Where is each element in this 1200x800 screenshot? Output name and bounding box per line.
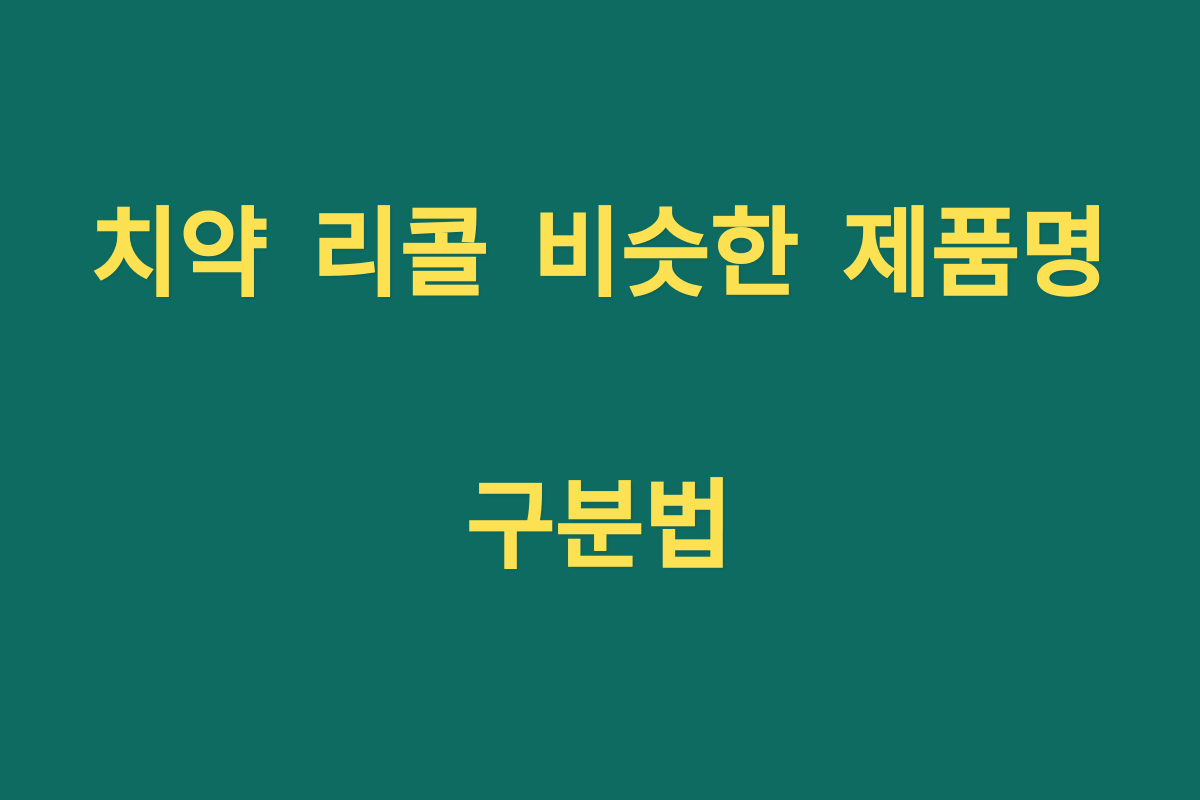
headline-line-1: 치약 리콜 비슷한 제품명 (70, 186, 1130, 322)
page-title: 치약 리콜 비슷한 제품명 구분법 (70, 49, 1130, 731)
headline-block: 치약 리콜 비슷한 제품명 구분법 (70, 49, 1130, 731)
headline-line-2: 구분법 (70, 458, 1130, 594)
banner-canvas: 치약 리콜 비슷한 제품명 구분법 (0, 0, 1200, 800)
